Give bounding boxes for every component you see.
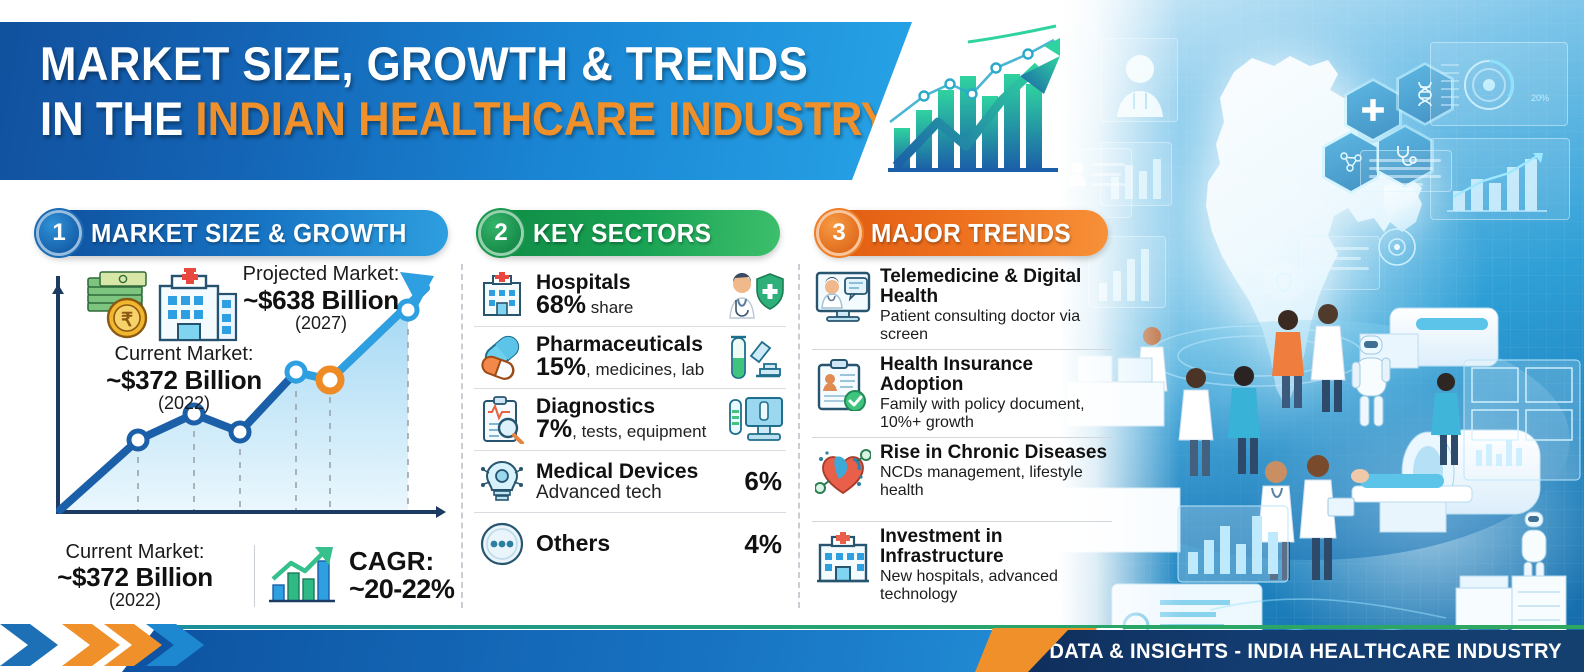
sector-name-hospitals: Hospitals	[536, 272, 724, 293]
lab-monitor-icon	[724, 396, 786, 444]
clipboard-magnifier-icon	[474, 396, 530, 444]
sector-row-diagnostics[interactable]: Diagnostics 7%, tests, equipment	[474, 389, 786, 451]
footer-text: DATA & INSIGHTS - INDIA HEALTHCARE INDUS…	[1049, 640, 1562, 664]
trend-name-health-insurance: Health Insurance Adoption	[880, 355, 1112, 395]
sector-medical-devices-body: Medical Devices Advanced tech	[530, 461, 724, 502]
summary-divider	[254, 545, 255, 607]
cagr-text-block: CAGR: ~20-22%	[349, 548, 454, 604]
test-tube-microscope-icon	[724, 334, 786, 382]
market-summary-row: Current Market: ~$372 Billion (2022) CAG…	[28, 532, 460, 620]
section-header-major-trends[interactable]: 3 MAJOR TRENDS	[816, 210, 1108, 256]
column-divider-1	[461, 264, 463, 608]
sector-name-medical-devices: Medical Devices	[536, 461, 724, 482]
sector-name-others: Others	[536, 532, 724, 555]
sector-pharmaceuticals-stat: 15%, medicines, lab	[536, 355, 724, 381]
sector-pct-hospitals: 68%	[536, 291, 586, 319]
growth-bars-arrow-icon	[267, 545, 339, 607]
sector-pct-medical-devices: 6%	[744, 466, 786, 497]
sector-name-pharmaceuticals: Pharmaceuticals	[536, 334, 724, 355]
floating-bar-chart-panel	[1178, 506, 1288, 582]
projected-market-value: ~$638 Billion	[206, 286, 436, 314]
sector-diagnostics-body: Diagnostics 7%, tests, equipment	[530, 396, 724, 443]
title-line-2: IN THE INDIAN HEALTHCARE INDUSTRY	[40, 95, 890, 144]
footer-bar: DATA & INSIGHTS - INDIA HEALTHCARE INDUS…	[0, 618, 1584, 672]
pill-capsule-icon	[474, 334, 530, 382]
trend-row-chronic-diseases[interactable]: Rise in Chronic Diseases NCDs management…	[812, 438, 1112, 522]
footer-accent-line	[160, 625, 1584, 629]
trend-name-infrastructure: Investment in Infrastructure	[880, 527, 1112, 567]
footer-current-market-label: Current Market:	[28, 541, 242, 563]
footer-current-market-value: ~$372 Billion	[28, 563, 242, 592]
current-market-label: Current Market:	[76, 344, 292, 366]
trend-desc-chronic-diseases: NCDs management, lifestyle health	[880, 464, 1112, 500]
sector-row-hospitals[interactable]: Hospitals 68% share	[474, 264, 786, 327]
chevron-2-icon	[62, 624, 120, 666]
insurance-clipboard-icon	[812, 355, 874, 411]
trend-chronic-diseases-body: Rise in Chronic Diseases NCDs management…	[874, 443, 1112, 500]
sector-pct-medical-devices-wrap: 6%	[724, 466, 786, 497]
footer-dark-panel: DATA & INSIGHTS - INDIA HEALTHCARE INDUS…	[1028, 630, 1584, 672]
sector-others-body: Others	[530, 532, 724, 555]
major-trends-list: Telemedicine & Digital Health Patient co…	[812, 262, 1112, 609]
cagr-label: CAGR:	[349, 548, 454, 575]
sector-hospitals-body: Hospitals 68% share	[530, 272, 724, 319]
sector-note-medical-devices: Advanced tech	[536, 483, 724, 502]
projected-market-year: (2027)	[206, 314, 436, 333]
cagr-value: ~20-22%	[349, 575, 454, 603]
radial-gauge-panel: 20%	[1430, 42, 1568, 126]
trend-health-insurance-body: Health Insurance Adoption Family with po…	[874, 355, 1112, 432]
hero-illustration: 20%	[1060, 0, 1584, 672]
telemedicine-monitor-icon	[812, 267, 874, 323]
sector-diagnostics-stat: 7%, tests, equipment	[536, 417, 724, 443]
sector-name-diagnostics: Diagnostics	[536, 396, 724, 417]
section-header-key-sectors[interactable]: 2 KEY SECTORS	[478, 210, 780, 256]
section-number-1: 1	[39, 213, 79, 253]
title-line-1: MARKET SIZE, GROWTH & TRENDS	[40, 40, 890, 89]
hospital-building-icon	[812, 527, 874, 583]
key-sectors-list: Hospitals 68% share	[474, 264, 786, 575]
sector-note-diagnostics: , tests, equipment	[572, 422, 706, 441]
section-header-market-size[interactable]: 1 MARKET SIZE & GROWTH	[36, 210, 448, 256]
trend-desc-telemedicine: Patient consulting doctor via screen	[880, 308, 1112, 344]
trend-row-health-insurance[interactable]: Health Insurance Adoption Family with po…	[812, 350, 1112, 438]
sector-hospitals-stat: 68% share	[536, 293, 724, 319]
trend-infrastructure-body: Investment in Infrastructure New hospita…	[874, 527, 1112, 604]
trend-desc-infrastructure: New hospitals, advanced technology	[880, 568, 1112, 604]
sector-pct-diagnostics: 7%	[536, 415, 572, 443]
trend-row-telemedicine[interactable]: Telemedicine & Digital Health Patient co…	[812, 262, 1112, 350]
highlighted-data-point	[319, 369, 341, 391]
sector-row-others[interactable]: Others 4%	[474, 513, 786, 575]
svg-text:20%: 20%	[1531, 93, 1549, 103]
ellipsis-circle-icon	[474, 520, 530, 568]
cagr-block: CAGR: ~20-22%	[267, 545, 454, 607]
column-divider-2	[798, 264, 800, 608]
projected-market-label: Projected Market:	[206, 264, 436, 286]
section-number-2: 2	[481, 213, 521, 253]
hospital-icon	[474, 271, 530, 319]
bar-chart-panel	[1430, 138, 1570, 220]
sector-note-hospitals: share	[586, 298, 633, 317]
rupee-coin-icon: ₹	[108, 299, 146, 337]
current-market-value: ~$372 Billion	[76, 366, 292, 394]
chat-bubble-icon	[1298, 236, 1380, 290]
current-market-label-block: Current Market: ~$372 Billion (2022)	[76, 344, 292, 413]
current-market-year: (2022)	[76, 394, 292, 413]
trend-name-chronic-diseases: Rise in Chronic Diseases	[880, 443, 1112, 463]
doctor-shield-icon	[724, 270, 786, 320]
footer-current-market-block: Current Market: ~$372 Billion (2022)	[28, 541, 242, 611]
sector-row-medical-devices[interactable]: Medical Devices Advanced tech 6%	[474, 451, 786, 513]
chevron-1-icon	[0, 624, 58, 666]
node-target-icon	[1372, 222, 1422, 272]
trend-name-telemedicine: Telemedicine & Digital Health	[880, 267, 1112, 307]
heart-network-icon	[812, 443, 874, 497]
title-line-2-prefix: IN THE	[40, 92, 195, 145]
smart-device-icon	[474, 458, 530, 506]
svg-text:₹: ₹	[121, 310, 133, 331]
footer-current-market-year: (2022)	[28, 591, 242, 611]
section-number-3: 3	[819, 213, 859, 253]
footer-chevron-group	[0, 618, 270, 672]
section-title-2: KEY SECTORS	[533, 218, 711, 249]
trend-row-infrastructure[interactable]: Investment in Infrastructure New hospita…	[812, 522, 1112, 609]
title-line-2-highlight: INDIAN HEALTHCARE INDUSTRY	[195, 92, 890, 145]
trend-telemedicine-body: Telemedicine & Digital Health Patient co…	[874, 267, 1112, 344]
medical-dashboard-panel	[1464, 360, 1580, 480]
section-title-1: MARKET SIZE & GROWTH	[91, 218, 407, 249]
sector-note-pharmaceuticals: , medicines, lab	[586, 360, 704, 379]
section-title-3: MAJOR TRENDS	[871, 218, 1071, 249]
infographic-canvas: 20%	[0, 0, 1584, 672]
mri-machine-top	[1360, 308, 1498, 368]
trend-desc-health-insurance: Family with policy document, 10%+ growth	[880, 396, 1112, 432]
projected-market-label-block: Projected Market: ~$638 Billion (2027)	[206, 264, 436, 333]
sector-pct-others-wrap: 4%	[724, 529, 786, 560]
title-banner: MARKET SIZE, GROWTH & TRENDS IN THE INDI…	[0, 22, 912, 180]
sector-pharmaceuticals-body: Pharmaceuticals 15%, medicines, lab	[530, 334, 724, 381]
sector-row-pharmaceuticals[interactable]: Pharmaceuticals 15%, medicines, lab	[474, 327, 786, 389]
sector-pct-others: 4%	[744, 529, 786, 560]
sector-pct-pharmaceuticals: 15%	[536, 353, 586, 381]
